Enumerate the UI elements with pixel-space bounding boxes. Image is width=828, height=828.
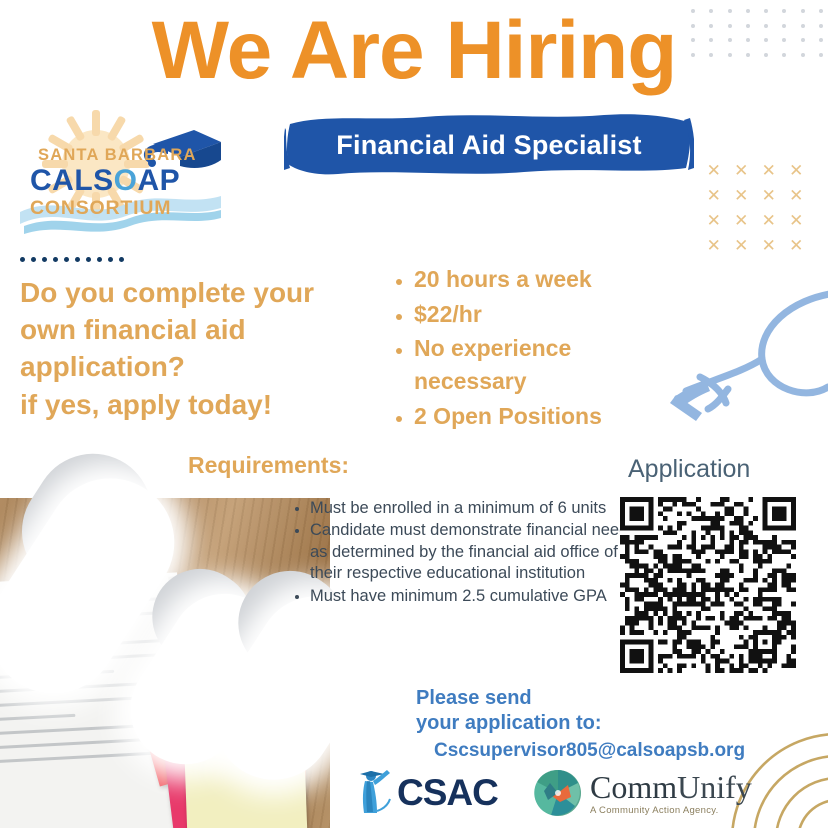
graduate-figure-icon xyxy=(357,769,393,817)
dotted-rule-decoration xyxy=(20,257,124,262)
question-line: own financial aid xyxy=(20,311,370,348)
list-item: 2 Open Positions xyxy=(414,400,684,433)
list-item: $22/hr xyxy=(414,298,684,331)
communify-name-b: Unify xyxy=(677,769,752,805)
csac-wordmark: CSAC xyxy=(397,772,498,814)
page-title: We Are Hiring xyxy=(0,8,828,94)
qr-code[interactable] xyxy=(620,497,796,673)
send-line-2: your application to: xyxy=(416,711,746,736)
list-item: Candidate must demonstrate financial nee… xyxy=(310,520,630,584)
communify-mark-icon xyxy=(534,769,582,817)
contact-email[interactable]: Cscsupervisor805@calsoapsb.org xyxy=(434,740,745,762)
logo-line-2b: O xyxy=(114,164,138,197)
logo-line-2a: CALS xyxy=(30,164,114,197)
x-grid-decoration: ✕✕✕✕ ✕✕✕✕ ✕✕✕✕ ✕✕✕✕ xyxy=(700,158,810,258)
job-title-banner: Financial Aid Specialist xyxy=(284,112,694,178)
perks-list: 20 hours a week $22/hr No experience nec… xyxy=(392,263,684,434)
logo-line-1: SANTA BARBARA xyxy=(38,146,197,164)
communify-name-a: Comm xyxy=(590,769,677,805)
csac-logo: CSAC xyxy=(357,768,498,818)
svg-text:CALSOAP: CALSOAP xyxy=(30,164,180,197)
list-item: No experience necessary xyxy=(414,332,684,397)
communify-logo: CommUnify A Community Action Agency. xyxy=(534,766,752,820)
question-line: application? xyxy=(20,348,370,385)
logo-line-2c: AP xyxy=(138,164,181,197)
communify-wordmark: CommUnify xyxy=(590,771,752,803)
communify-tagline: A Community Action Agency. xyxy=(590,806,752,816)
list-item: Must have minimum 2.5 cumulative GPA xyxy=(310,586,630,607)
list-item: 20 hours a week xyxy=(414,263,684,296)
calsoap-logo: SANTA BARBARA CALSOAP CONSORTIUM xyxy=(18,108,223,236)
question-line: Do you complete your xyxy=(20,274,370,311)
question-block: Do you complete your own financial aid a… xyxy=(20,274,370,423)
application-label: Application xyxy=(628,455,750,484)
hiring-flyer: We Are Hiring Financial Aid Specialist xyxy=(0,0,828,828)
requirements-title: Requirements: xyxy=(188,452,349,479)
send-application-text: Please send your application to: xyxy=(416,686,746,736)
send-line-1: Please send xyxy=(416,686,746,711)
job-title-text: Financial Aid Specialist xyxy=(284,112,694,178)
question-line: if yes, apply today! xyxy=(20,386,370,423)
list-item: Must be enrolled in a minimum of 6 units xyxy=(310,498,630,519)
logo-line-3: CONSORTIUM xyxy=(30,197,171,219)
requirements-list: Must be enrolled in a minimum of 6 units… xyxy=(290,498,630,608)
